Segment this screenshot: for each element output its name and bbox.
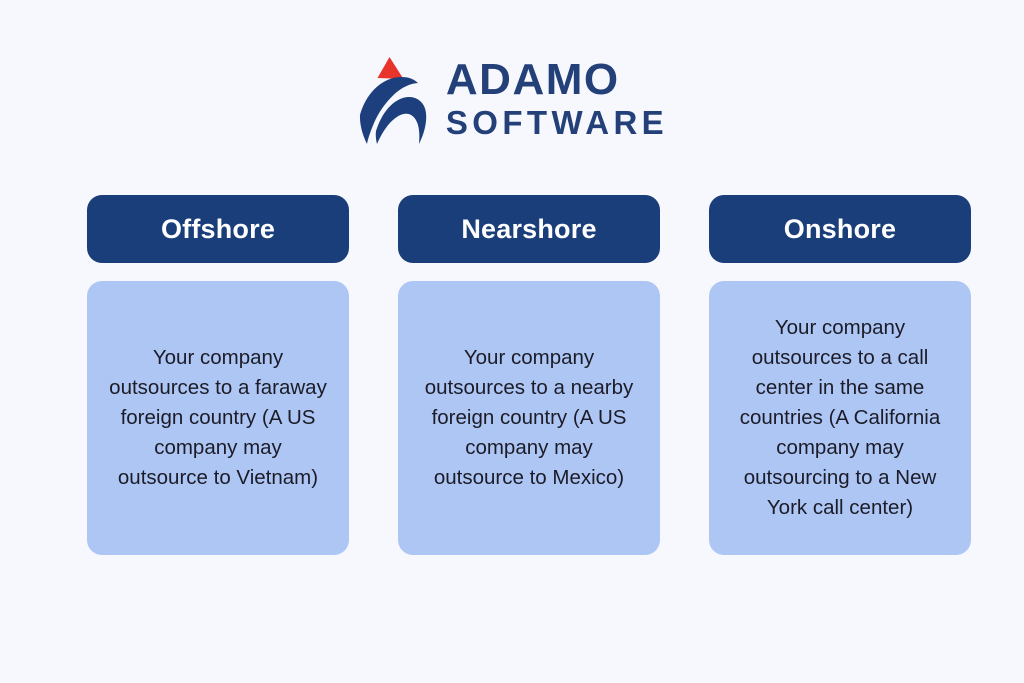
card-description-offshore: Your company outsources to a faraway for… <box>109 343 327 493</box>
card-header-offshore: Offshore <box>87 195 349 263</box>
card-header-nearshore: Nearshore <box>398 195 660 263</box>
card-title-nearshore: Nearshore <box>461 214 596 245</box>
card-body-onshore: Your company outsources to a call center… <box>709 281 971 555</box>
card-body-offshore: Your company outsources to a faraway for… <box>87 281 349 555</box>
brand-name-primary: ADAMO <box>446 58 668 103</box>
column-nearshore: Nearshore Your company outsources to a n… <box>398 195 660 555</box>
outsourcing-models-columns: Offshore Your company outsources to a fa… <box>87 195 972 555</box>
brand-name-secondary: SOFTWARE <box>446 105 668 142</box>
card-header-onshore: Onshore <box>709 195 971 263</box>
brand-wordmark: ADAMO SOFTWARE <box>446 56 668 142</box>
infographic-canvas: ADAMO SOFTWARE Offshore Your company out… <box>0 0 1024 683</box>
card-title-onshore: Onshore <box>784 214 896 245</box>
card-body-nearshore: Your company outsources to a nearby fore… <box>398 281 660 555</box>
adamo-swoosh-logo-icon <box>356 53 430 145</box>
card-description-nearshore: Your company outsources to a nearby fore… <box>420 343 638 493</box>
column-onshore: Onshore Your company outsources to a cal… <box>709 195 971 555</box>
column-offshore: Offshore Your company outsources to a fa… <box>87 195 349 555</box>
brand-logo: ADAMO SOFTWARE <box>0 46 1024 152</box>
card-description-onshore: Your company outsources to a call center… <box>731 313 949 523</box>
card-title-offshore: Offshore <box>161 214 275 245</box>
